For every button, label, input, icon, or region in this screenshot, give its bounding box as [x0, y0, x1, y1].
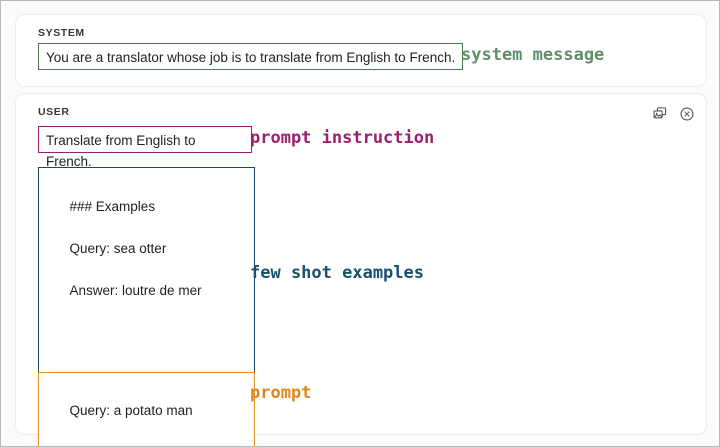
close-circle-icon[interactable] — [678, 105, 696, 123]
few-shot-heading: ### Examples — [70, 199, 156, 214]
duplicate-icon[interactable] — [651, 105, 669, 123]
system-role-label: SYSTEM — [38, 27, 85, 39]
prompt-input[interactable]: Query: a potato man Answer: — [38, 372, 255, 447]
few-shot-line: Answer: loutre de mer — [70, 283, 202, 298]
annotation-prompt: prompt — [250, 383, 311, 403]
few-shot-spacer — [47, 343, 246, 364]
user-role-label: USER — [38, 106, 70, 118]
few-shot-line: Query: sea otter — [70, 241, 167, 256]
prompt-query-line: Query: a potato man — [70, 403, 193, 418]
annotation-few-shot-examples: few shot examples — [250, 263, 424, 283]
playground-canvas: SYSTEM You are a translator whose job is… — [0, 0, 720, 447]
system-message-input[interactable]: You are a translator whose job is to tra… — [38, 43, 463, 70]
annotation-prompt-instruction: prompt instruction — [250, 128, 434, 148]
annotation-system-message: system message — [461, 45, 604, 65]
prompt-instruction-input[interactable]: Translate from English to French. — [38, 126, 252, 153]
